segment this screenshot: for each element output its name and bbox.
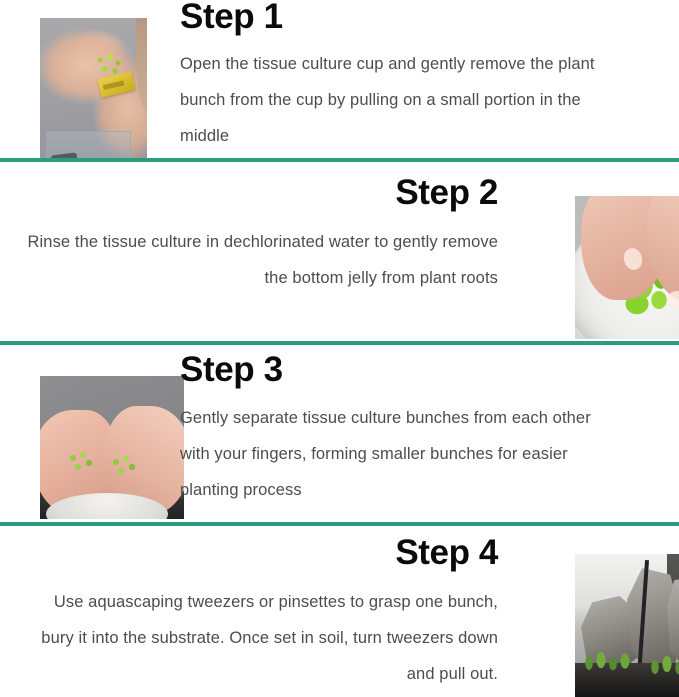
step-2-title: Step 2 bbox=[20, 172, 498, 214]
plant-bunch-shape bbox=[66, 450, 96, 476]
step-2-body: Rinse the tissue culture in dechlorinate… bbox=[20, 224, 498, 296]
planted-greenery-shape bbox=[583, 649, 635, 675]
step-1-photo bbox=[40, 18, 184, 161]
step-3-body: Gently separate tissue culture bunches f… bbox=[180, 400, 610, 508]
planting-steps-guide: Step 1 Open the tissue culture cup and g… bbox=[0, 0, 679, 683]
step-3-title: Step 3 bbox=[180, 349, 610, 391]
step-4-text-column: Step 4 Use aquascaping tweezers or pinse… bbox=[20, 532, 498, 692]
step-1-text-column: Step 1 Open the tissue culture cup and g… bbox=[180, 0, 610, 154]
step-3-text-column: Step 3 Gently separate tissue culture bu… bbox=[180, 349, 610, 508]
step-4-body: Use aquascaping tweezers or pinsettes to… bbox=[20, 584, 498, 692]
step-1-photo-canvas bbox=[40, 18, 184, 161]
step-4-title: Step 4 bbox=[20, 532, 498, 574]
step-section-4: Step 4 Use aquascaping tweezers or pinse… bbox=[0, 526, 679, 683]
step-4-photo bbox=[575, 554, 679, 697]
aquarium-tank-shape bbox=[46, 131, 131, 161]
step-section-1: Step 1 Open the tissue culture cup and g… bbox=[0, 0, 679, 158]
planted-greenery-shape bbox=[649, 653, 679, 679]
step-section-2: Step 2 Rinse the tissue culture in dechl… bbox=[0, 162, 679, 343]
step-3-photo-canvas bbox=[40, 376, 184, 519]
step-2-text-column: Step 2 Rinse the tissue culture in dechl… bbox=[20, 172, 498, 296]
plant-bunch-shape bbox=[109, 454, 139, 480]
step-section-3: Step 3 Gently separate tissue culture bu… bbox=[0, 345, 679, 522]
step-4-photo-canvas bbox=[575, 554, 679, 697]
step-1-body: Open the tissue culture cup and gently r… bbox=[180, 46, 610, 154]
step-2-photo bbox=[575, 196, 679, 339]
step-3-photo bbox=[40, 376, 184, 519]
step-2-photo-canvas bbox=[575, 196, 679, 339]
photo-right-fade bbox=[147, 18, 184, 161]
step-1-title: Step 1 bbox=[180, 0, 610, 38]
